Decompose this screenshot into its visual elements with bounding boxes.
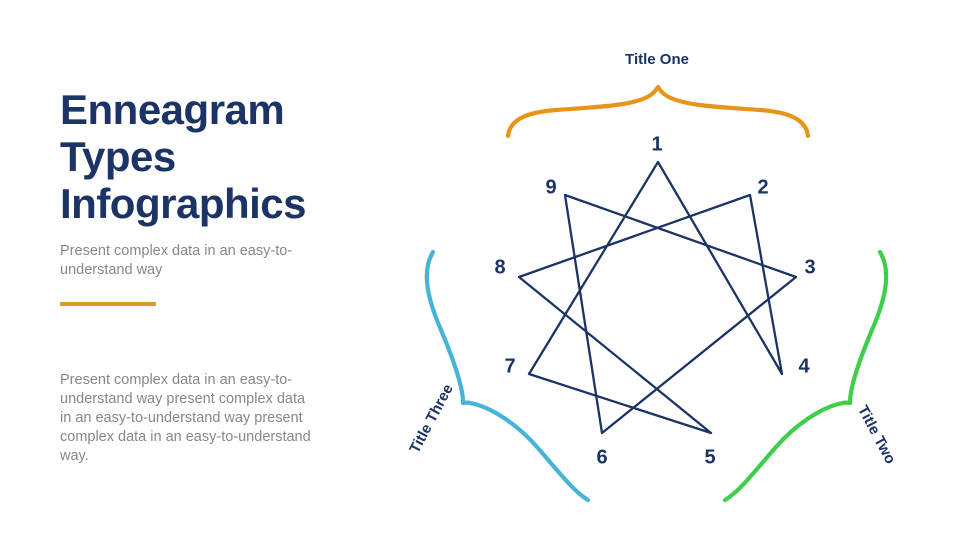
node-label-2: 2	[757, 176, 768, 198]
node-label-5: 5	[704, 446, 715, 468]
brace-title-three-label: Title Three	[406, 381, 456, 456]
node-label-7: 7	[504, 355, 515, 377]
node-label-8: 8	[494, 256, 505, 278]
node-label-1: 1	[651, 133, 662, 155]
body-paragraph: Present complex data in an easy-to-under…	[60, 371, 318, 466]
enneagram-diagram: Title One Title Two Title Three 1	[380, 0, 980, 551]
page-title: Enneagram Types Infographics	[60, 86, 360, 227]
brace-title-two: Title Two	[725, 252, 899, 500]
brace-title-three: Title Three	[406, 252, 588, 500]
brace-curve-orange	[508, 87, 808, 136]
left-text-column: Enneagram Types Infographics Present com…	[60, 86, 360, 306]
brace-title-two-label: Title Two	[854, 403, 899, 467]
page-subtitle: Present complex data in an easy-to-under…	[60, 227, 322, 280]
enneagram-hexad	[519, 162, 782, 433]
brace-title-one: Title One	[508, 51, 808, 136]
slide-canvas: Enneagram Types Infographics Present com…	[0, 0, 980, 551]
enneagram-figure	[519, 162, 796, 433]
brace-title-one-label: Title One	[625, 51, 689, 68]
node-label-9: 9	[545, 176, 556, 198]
node-label-4: 4	[798, 355, 810, 377]
node-label-6: 6	[596, 446, 607, 468]
accent-rule-divider	[60, 302, 156, 306]
node-label-3: 3	[804, 256, 815, 278]
